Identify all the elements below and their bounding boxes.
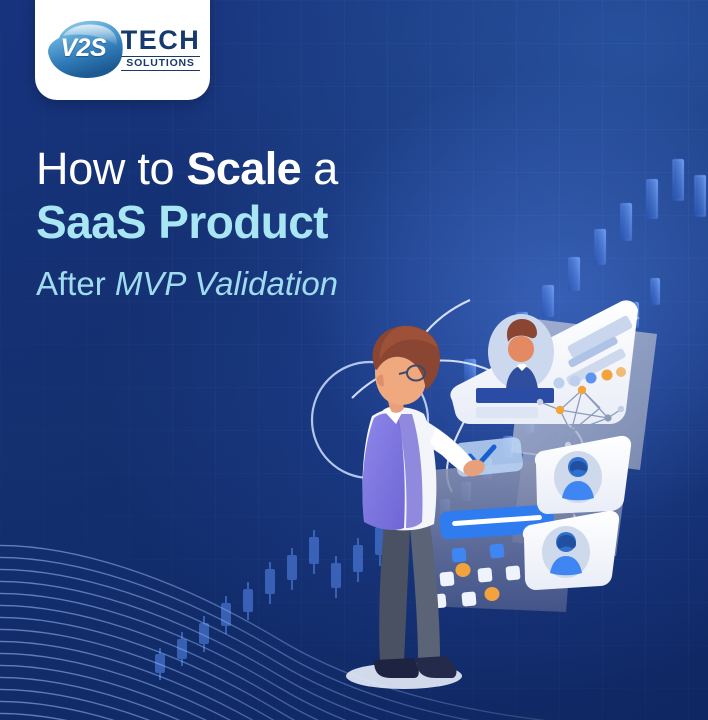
logo-wordmark: TECH SOLUTIONS <box>121 27 201 71</box>
logo-inner: V2S TECH SOLUTIONS <box>45 18 201 80</box>
headline-word-mvp-validation: MVP Validation <box>115 265 338 302</box>
dark-navy-shoes <box>374 658 419 678</box>
light-bar <box>476 407 538 418</box>
headline-block: How to Scale a SaaS Product After MVP Va… <box>36 143 466 302</box>
logo-tech-text: TECH <box>121 27 201 54</box>
headline-line-1: How to Scale a <box>36 143 466 194</box>
headline-word-how-to: How to <box>36 143 186 194</box>
logo-solutions-text: SOLUTIONS <box>121 56 201 71</box>
user-avatar-icon <box>542 526 590 578</box>
headline-line-2: SaaS Product <box>36 196 466 248</box>
user-avatar-icon <box>554 451 602 503</box>
headline-word-after: After <box>36 265 115 302</box>
headline-word-saas-product: SaaS Product <box>36 196 328 248</box>
poster-canvas: V2S TECH SOLUTIONS How to Scale a SaaS P… <box>0 0 708 720</box>
headline-line-3: After MVP Validation <box>36 265 466 303</box>
logo-card[interactable]: V2S TECH SOLUTIONS <box>35 0 210 100</box>
logo-mark-text: V2S <box>45 34 122 63</box>
blob-shape-icon: V2S <box>45 18 125 80</box>
headline-word-scale: Scale <box>186 143 301 194</box>
headline-word-a: a <box>301 143 338 194</box>
illustration-layer <box>0 0 708 720</box>
